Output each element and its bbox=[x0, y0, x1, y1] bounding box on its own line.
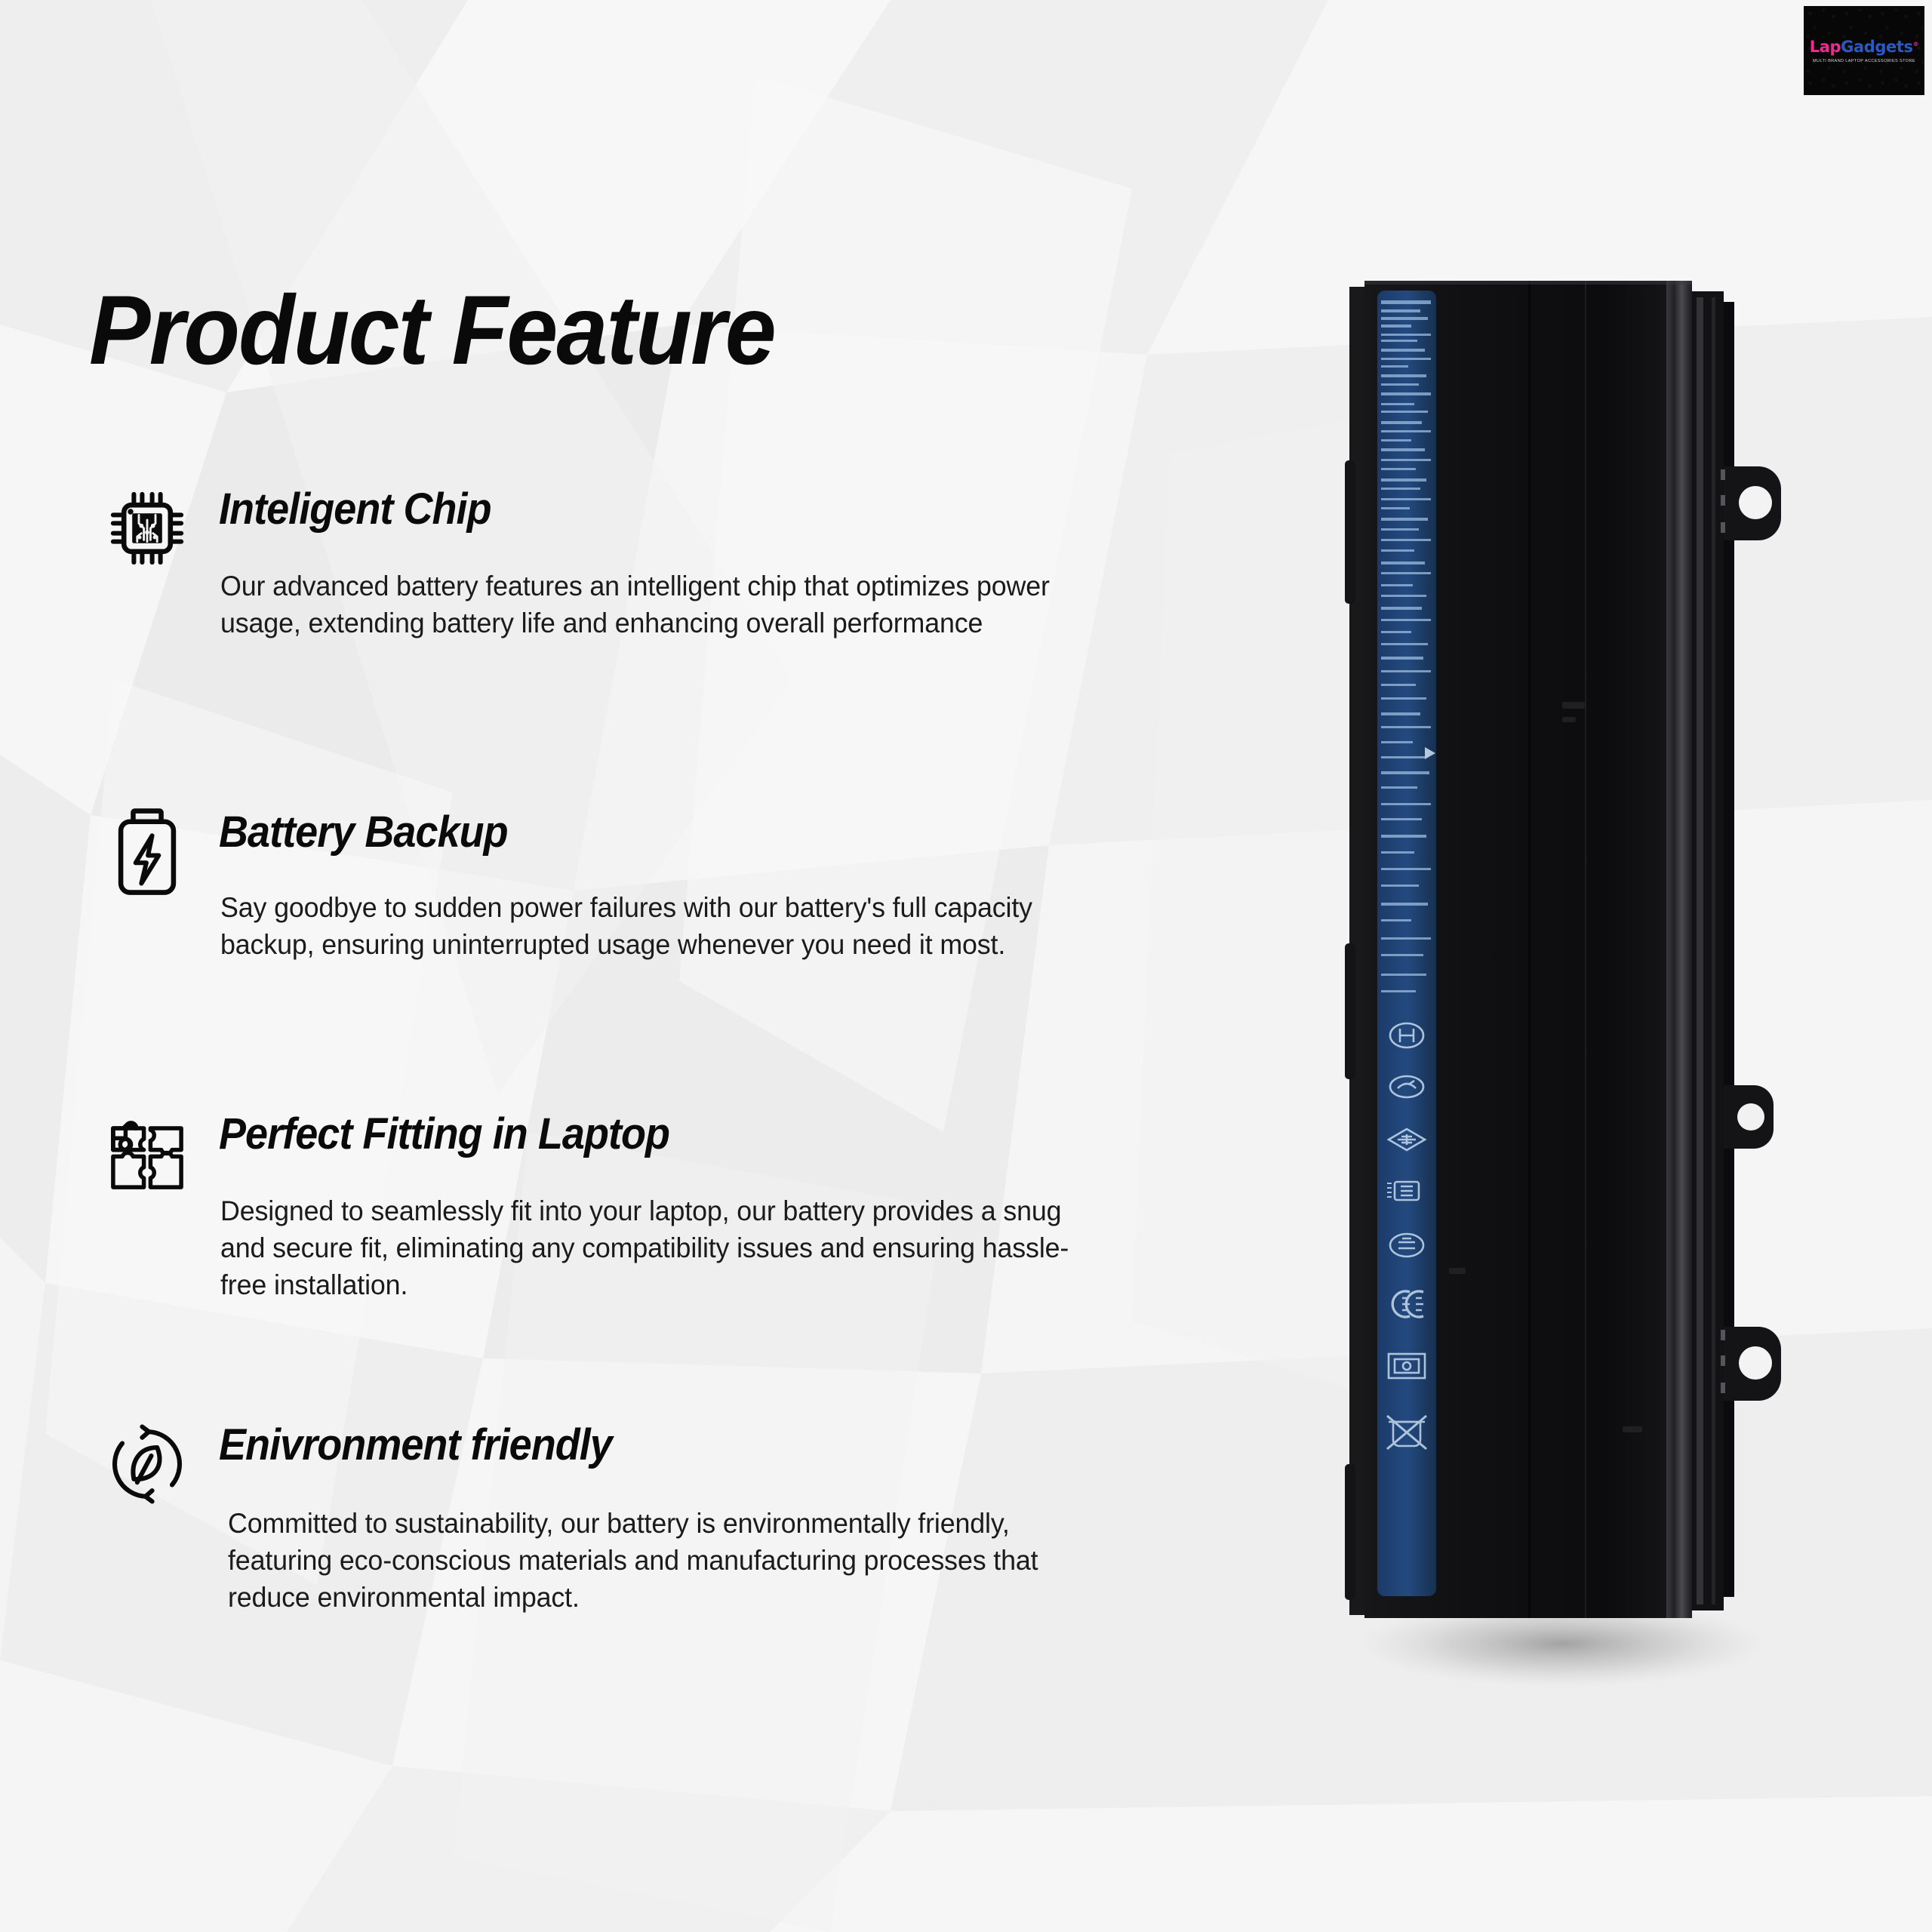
feature-title: Inteligent Chip bbox=[219, 488, 491, 531]
registered-mark: ® bbox=[1913, 41, 1919, 48]
recycle-leaf-icon bbox=[106, 1419, 189, 1509]
battery-bolt-icon bbox=[106, 806, 189, 897]
product-image-laptop-battery bbox=[1336, 264, 1864, 1728]
mounting-tab bbox=[1721, 1327, 1781, 1401]
feature-title: Perfect Fitting in Laptop bbox=[219, 1112, 669, 1156]
page-title: Product Feature bbox=[89, 281, 775, 379]
puzzle-pieces-icon bbox=[106, 1108, 189, 1198]
feature-title: Enivronment friendly bbox=[219, 1423, 612, 1467]
mounting-tab bbox=[1724, 1085, 1774, 1149]
brand-tagline: MULTI BRAND LAPTOP ACCESSORIES STORE bbox=[1813, 59, 1915, 63]
feature-description: Say goodbye to sudden power failures wit… bbox=[220, 889, 1071, 963]
feature-title: Battery Backup bbox=[219, 811, 508, 854]
feature-description: Committed to sustainability, our battery… bbox=[228, 1505, 1078, 1615]
brand-wordmark: LapGadgets® bbox=[1810, 38, 1918, 56]
cpu-chip-icon bbox=[106, 483, 189, 574]
feature-description: Designed to seamlessly fit into your lap… bbox=[220, 1192, 1071, 1303]
mounting-tab bbox=[1721, 466, 1781, 540]
brand-logo-badge: LapGadgets® MULTI BRAND LAPTOP ACCESSORI… bbox=[1804, 6, 1924, 95]
brand-name-part1: Lap bbox=[1810, 38, 1841, 56]
brand-name-part2: Gadgets bbox=[1841, 38, 1912, 56]
feature-description: Our advanced battery features an intelli… bbox=[220, 568, 1071, 641]
